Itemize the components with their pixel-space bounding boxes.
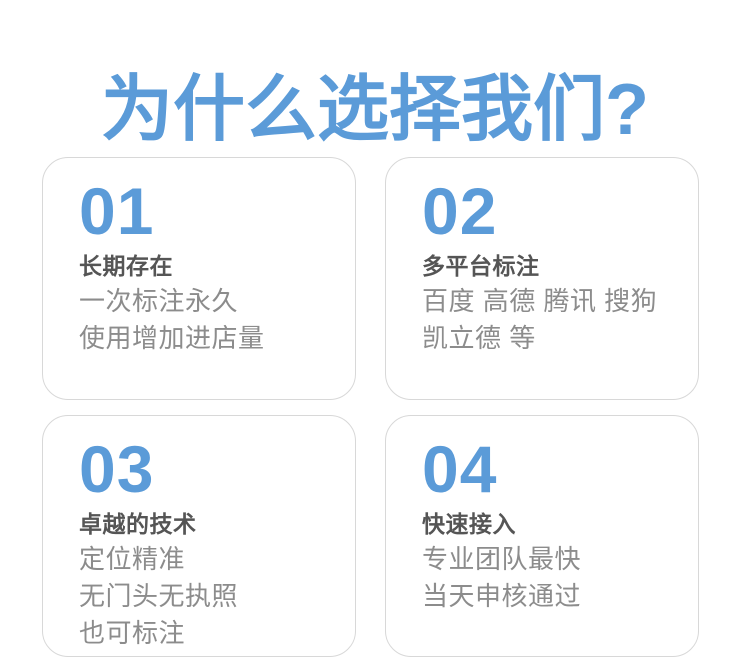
feature-card-02[interactable]: 02 多平台标注 百度 高德 腾讯 搜狗 凯立德 等 xyxy=(385,157,699,400)
feature-card-01[interactable]: 01 长期存在 一次标注永久 使用增加进店量 xyxy=(42,157,356,400)
card-description: 百度 高德 腾讯 搜狗 凯立德 等 xyxy=(422,283,690,357)
promo-page: 为什么选择我们? 01 长期存在 一次标注永久 使用增加进店量 02 多平台标注… xyxy=(0,0,750,668)
card-title: 长期存在 xyxy=(79,250,347,283)
card-content: 01 长期存在 一次标注永久 使用增加进店量 xyxy=(79,172,347,357)
page-title: 为什么选择我们? xyxy=(0,62,750,158)
card-description-line: 定位精准 xyxy=(79,541,347,578)
card-description-line: 凯立德 等 xyxy=(422,320,690,357)
card-title: 快速接入 xyxy=(422,508,690,541)
card-description: 定位精准 无门头无执照 也可标注 xyxy=(79,541,347,652)
card-number: 04 xyxy=(422,430,690,508)
card-number: 01 xyxy=(79,172,347,250)
card-description-line: 百度 高德 腾讯 搜狗 xyxy=(422,283,690,320)
card-content: 03 卓越的技术 定位精准 无门头无执照 也可标注 xyxy=(79,430,347,652)
card-description-line: 无门头无执照 xyxy=(79,578,347,615)
card-title: 卓越的技术 xyxy=(79,508,347,541)
feature-card-04[interactable]: 04 快速接入 专业团队最快 当天申核通过 xyxy=(385,415,699,657)
card-description: 专业团队最快 当天申核通过 xyxy=(422,541,690,615)
card-description-line: 使用增加进店量 xyxy=(79,320,347,357)
feature-card-03[interactable]: 03 卓越的技术 定位精准 无门头无执照 也可标注 xyxy=(42,415,356,657)
card-title: 多平台标注 xyxy=(422,250,690,283)
card-number: 03 xyxy=(79,430,347,508)
card-content: 02 多平台标注 百度 高德 腾讯 搜狗 凯立德 等 xyxy=(422,172,690,357)
card-number: 02 xyxy=(422,172,690,250)
feature-card-grid: 01 长期存在 一次标注永久 使用增加进店量 02 多平台标注 百度 高德 腾讯… xyxy=(42,157,700,657)
card-description-line: 也可标注 xyxy=(79,615,347,652)
card-description: 一次标注永久 使用增加进店量 xyxy=(79,283,347,357)
card-description-line: 当天申核通过 xyxy=(422,578,690,615)
card-description-line: 专业团队最快 xyxy=(422,541,690,578)
card-description-line: 一次标注永久 xyxy=(79,283,347,320)
card-content: 04 快速接入 专业团队最快 当天申核通过 xyxy=(422,430,690,615)
